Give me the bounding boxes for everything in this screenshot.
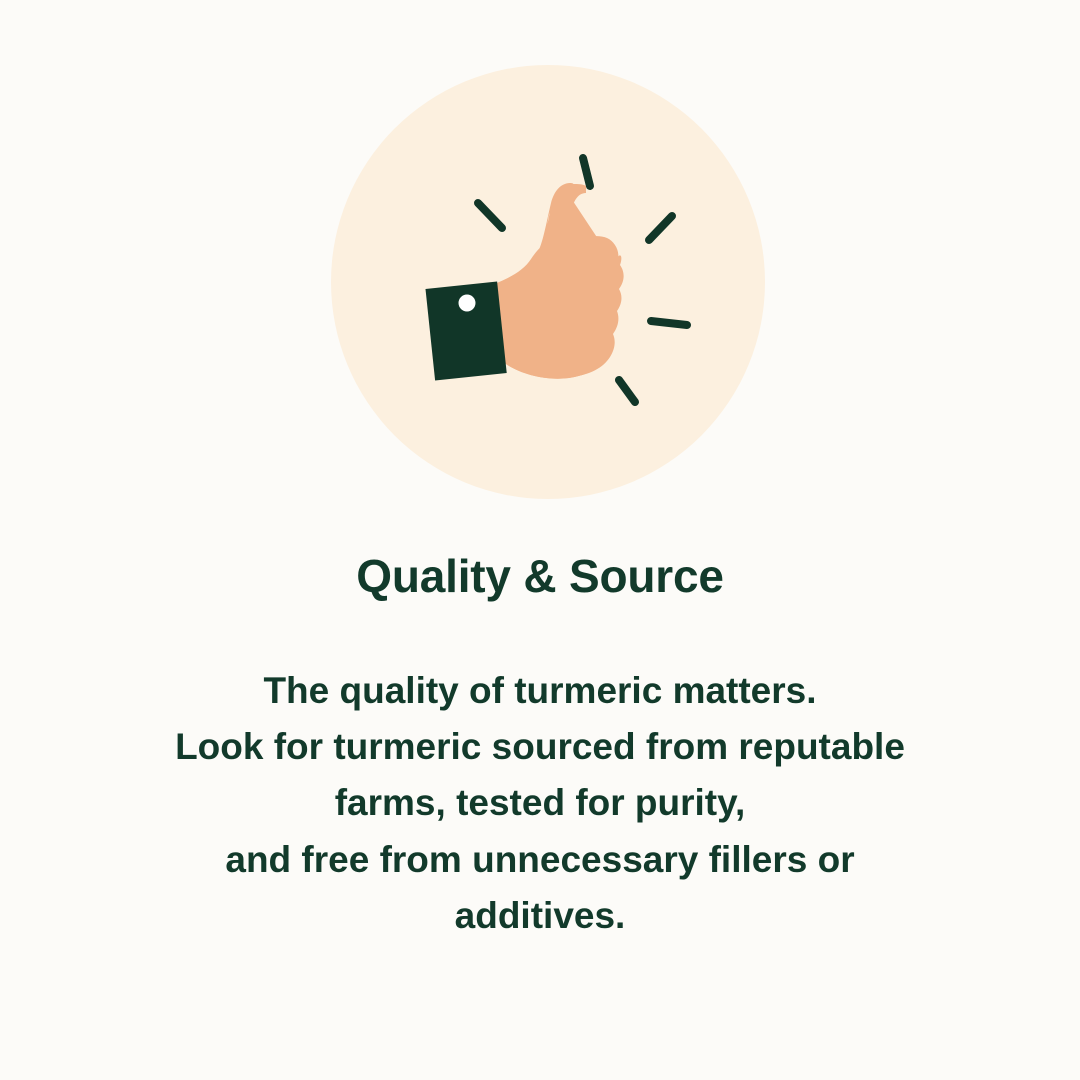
- cuff-button-icon: [459, 295, 476, 312]
- quality-and-source-card: Quality & Source The quality of turmeric…: [0, 0, 1080, 1080]
- body-line-2: Look for turmeric sourced from reputable: [0, 719, 1080, 775]
- body-line-3: farms, tested for purity,: [0, 775, 1080, 831]
- spark-right-icon: [651, 321, 687, 325]
- body-line-5: additives.: [0, 888, 1080, 944]
- page-title: Quality & Source: [0, 520, 1080, 603]
- body-line-1: The quality of turmeric matters.: [0, 663, 1080, 719]
- thumbs-up-illustration: [0, 0, 1080, 520]
- body-description: The quality of turmeric matters. Look fo…: [0, 603, 1080, 944]
- text-block: Quality & Source The quality of turmeric…: [0, 520, 1080, 944]
- body-line-4: and free from unnecessary fillers or: [0, 832, 1080, 888]
